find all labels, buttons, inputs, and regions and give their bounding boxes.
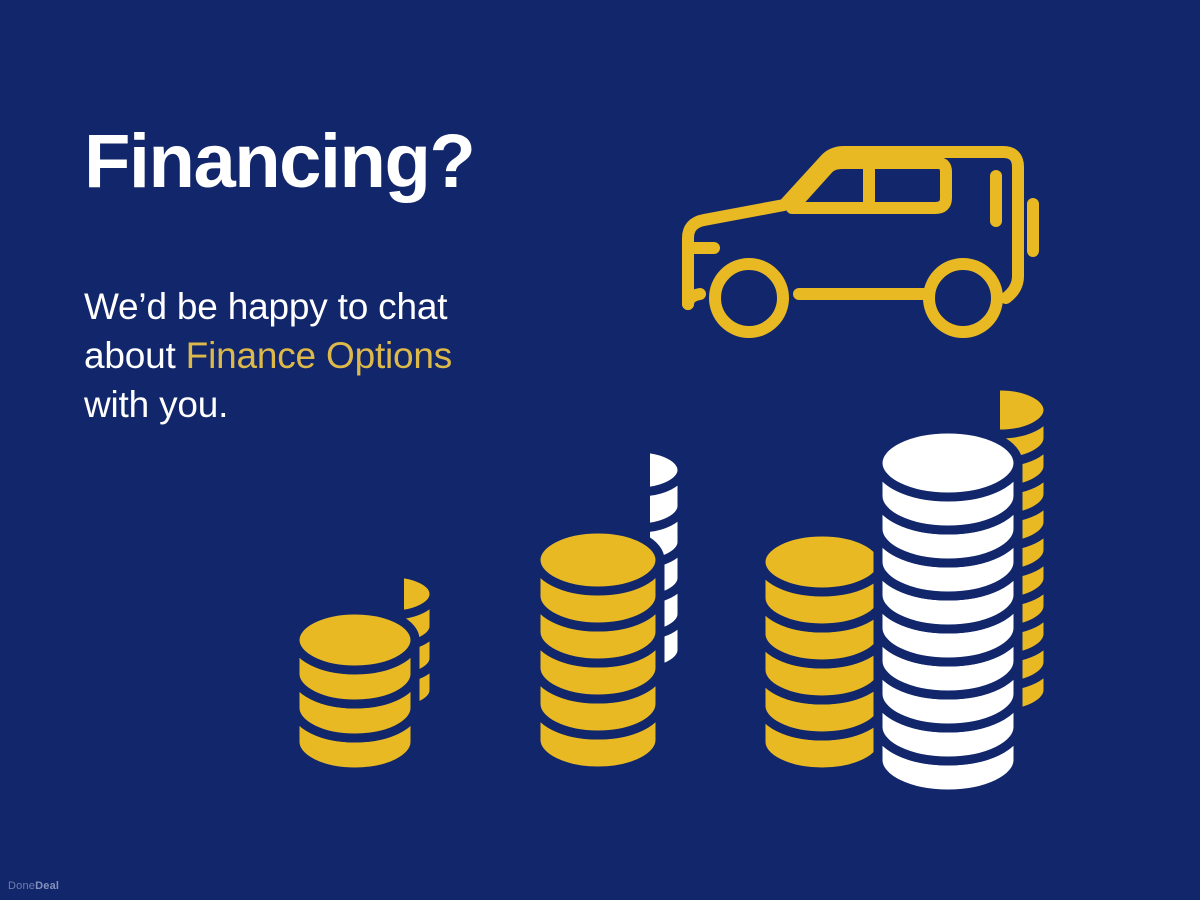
donedeal-watermark-logo: DoneDeal	[8, 880, 59, 892]
coin	[761, 532, 883, 628]
coin-stack-2-front	[536, 529, 660, 771]
coin	[295, 678, 415, 772]
coin	[594, 484, 682, 564]
coin	[878, 462, 1018, 563]
coin	[952, 554, 1048, 630]
subtitle-line-2-prefix: about	[84, 335, 186, 376]
coin	[952, 582, 1048, 658]
coin	[536, 637, 660, 735]
coin-stack-3-back-left	[794, 527, 882, 605]
coin	[952, 414, 1048, 490]
coin	[295, 644, 415, 738]
coin	[761, 640, 883, 736]
finance-options-accent: Finance Options	[186, 335, 452, 376]
coin	[536, 529, 660, 627]
coin	[594, 448, 682, 528]
coin	[878, 561, 1018, 662]
coin	[536, 601, 660, 699]
coin-stack-1-back	[350, 573, 434, 711]
coin	[952, 610, 1048, 686]
coin	[794, 527, 882, 605]
coin	[952, 442, 1048, 518]
watermark-part-two: Deal	[35, 880, 59, 892]
coin	[350, 573, 434, 647]
subtitle-block: We’d be happy to chat about Finance Opti…	[84, 282, 644, 429]
coin	[594, 556, 682, 636]
coin	[536, 673, 660, 771]
slide-canvas: Financing? We’d be happy to chat about F…	[0, 0, 1200, 900]
watermark-part-one: Done	[8, 880, 35, 892]
coin	[952, 638, 1048, 714]
coin-stack-2-back	[594, 448, 682, 672]
coin	[878, 693, 1018, 794]
coin	[878, 594, 1018, 695]
page-title: Financing?	[84, 124, 474, 200]
coin	[594, 592, 682, 672]
coin-stack-3-front	[878, 429, 1018, 794]
coin	[350, 605, 434, 679]
subtitle-line-3: with you.	[84, 380, 644, 429]
coin	[878, 660, 1018, 761]
coin	[878, 528, 1018, 629]
coin	[761, 568, 883, 664]
coin-stack-3-back-right	[952, 386, 1048, 714]
coin	[878, 627, 1018, 728]
subtitle-line-2: about Finance Options	[84, 331, 644, 380]
coin	[952, 526, 1048, 602]
coin	[878, 495, 1018, 596]
coin-stack-3-side-front	[761, 532, 883, 772]
car-outline-icon	[666, 126, 1066, 351]
coin-stack-1-front	[295, 610, 415, 772]
coin	[761, 604, 883, 700]
coin	[594, 520, 682, 600]
coin	[878, 429, 1018, 530]
coin	[952, 498, 1048, 574]
coin	[350, 637, 434, 711]
subtitle-line-1: We’d be happy to chat	[84, 282, 644, 331]
coin	[761, 676, 883, 772]
coin	[536, 565, 660, 663]
coin	[295, 610, 415, 704]
coin	[952, 470, 1048, 546]
coin	[952, 386, 1048, 462]
